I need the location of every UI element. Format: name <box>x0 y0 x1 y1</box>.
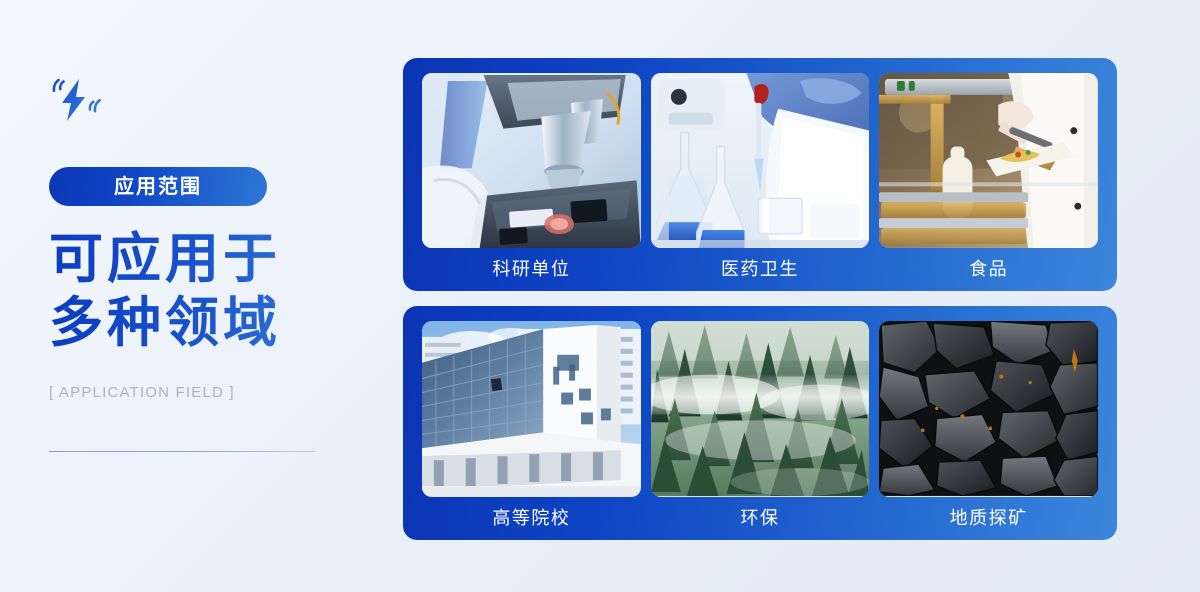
food-service-buffet-plating-image <box>879 73 1098 248</box>
left-info-column: 应用范围 可应用于 多种领域 [ APPLICATION FIELD ] <box>0 0 400 592</box>
application-card-label: 科研单位 <box>422 259 641 281</box>
card-grid-top: 科研单位 <box>422 73 1098 281</box>
application-card[interactable]: 高等院校 <box>422 321 641 530</box>
headline-line-2: 多种领域 <box>49 292 379 356</box>
application-card[interactable]: 地质探矿 <box>879 321 1098 530</box>
section-badge-label: 应用范围 <box>114 177 202 197</box>
application-card-label: 医药卫生 <box>651 259 870 281</box>
application-card[interactable]: 环保 <box>651 321 870 530</box>
application-card-label: 高等院校 <box>422 508 641 530</box>
application-row-bottom: 高等院校 <box>403 306 1117 540</box>
application-row-top: 科研单位 <box>403 58 1117 291</box>
misty-pine-forest-image <box>651 321 870 497</box>
divider <box>49 451 315 452</box>
application-card[interactable]: 医药卫生 <box>651 73 870 281</box>
lightning-signal-icon <box>49 76 105 124</box>
subtitle-english: [ APPLICATION FIELD ] <box>49 384 235 401</box>
pharmacy-pipette-flasks-image <box>651 73 870 248</box>
microscope-lab-sample-image <box>422 73 641 248</box>
university-glass-building-image <box>422 321 641 497</box>
coal-ore-rocks-image <box>879 321 1098 497</box>
application-card-label: 环保 <box>651 508 870 530</box>
page-title: 可应用于 多种领域 <box>49 228 379 355</box>
headline-line-1: 可应用于 <box>49 228 379 292</box>
application-card[interactable]: 食品 <box>879 73 1098 281</box>
card-grid-bottom: 高等院校 <box>422 321 1098 530</box>
section-badge: 应用范围 <box>49 167 267 206</box>
application-card-label: 地质探矿 <box>879 508 1098 530</box>
application-card-label: 食品 <box>879 259 1098 281</box>
application-card[interactable]: 科研单位 <box>422 73 641 281</box>
